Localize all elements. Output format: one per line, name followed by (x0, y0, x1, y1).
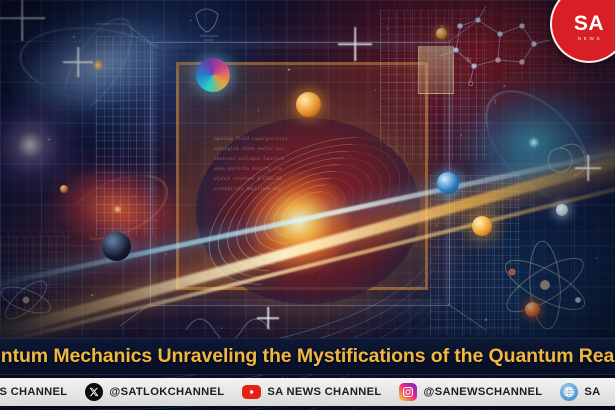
social-item-news-channel[interactable]: NEWS CHANNEL (0, 386, 76, 398)
social-label: NEWS CHANNEL (0, 386, 67, 398)
social-handles-bar: NEWS CHANNEL @SATLOKCHANNEL SA NEWS CHAN… (0, 378, 615, 406)
social-item-x[interactable]: @SATLOKCHANNEL (76, 383, 233, 401)
logo-subtext: N E W S (578, 36, 601, 41)
social-track: NEWS CHANNEL @SATLOKCHANNEL SA NEWS CHAN… (0, 383, 610, 401)
social-item-website[interactable]: SA (551, 383, 609, 401)
x-twitter-icon (85, 383, 103, 401)
social-label: @SATLOKCHANNEL (109, 386, 224, 398)
page-title: ntum Mechanics Unraveling the Mystificat… (1, 345, 614, 368)
instagram-icon (399, 383, 417, 401)
social-item-youtube[interactable]: SA NEWS CHANNEL (233, 385, 390, 399)
social-item-instagram[interactable]: @SANEWSCHANNEL (390, 383, 551, 401)
youtube-icon (242, 385, 261, 399)
headline-bar: ntum Mechanics Unraveling the Mystificat… (0, 338, 615, 375)
social-label: SA NEWS CHANNEL (267, 386, 381, 398)
logo-text: SA (574, 13, 604, 34)
social-label: SA (584, 386, 600, 398)
banner-image: quantum field superposition entangled st… (0, 0, 615, 410)
website-globe-icon (560, 383, 578, 401)
social-label: @SANEWSCHANNEL (423, 386, 542, 398)
